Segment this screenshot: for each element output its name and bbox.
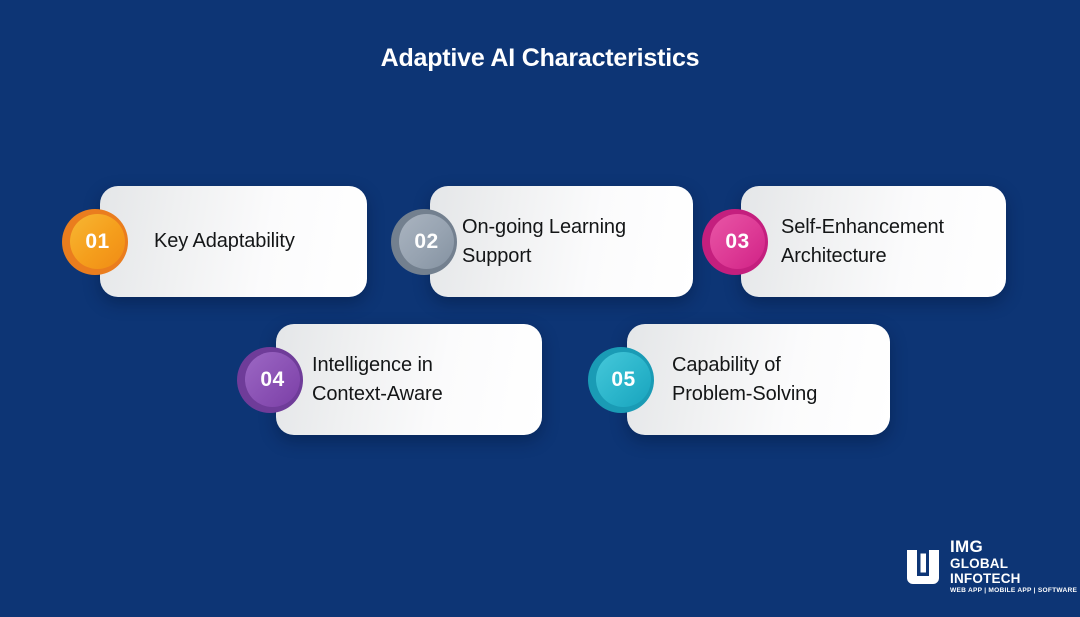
card-02-badge: 02 bbox=[399, 214, 454, 269]
card-02-label: On-going Learning Support bbox=[462, 213, 626, 270]
card-01-label: Key Adaptability bbox=[154, 227, 295, 255]
card-02[interactable]: On-going Learning Support bbox=[430, 186, 693, 297]
card-03[interactable]: Self-Enhancement Architecture bbox=[741, 186, 1006, 297]
img-logo-mark-icon bbox=[905, 548, 941, 586]
page-title: Adaptive AI Characteristics bbox=[0, 44, 1080, 73]
logo-name: IMG bbox=[950, 538, 1080, 556]
infographic-canvas: Adaptive AI Characteristics Key Adaptabi… bbox=[0, 0, 1080, 617]
logo-text-block: IMG GLOBAL INFOTECH WEB APP | MOBILE APP… bbox=[950, 538, 1080, 595]
card-05-badge: 05 bbox=[596, 352, 651, 407]
card-03-badge: 03 bbox=[710, 214, 765, 269]
card-04[interactable]: Intelligence in Context-Aware bbox=[276, 324, 542, 435]
logo-tagline: WEB APP | MOBILE APP | SOFTWARE bbox=[950, 587, 1080, 596]
card-04-badge: 04 bbox=[245, 352, 300, 407]
card-04-number: 04 bbox=[260, 369, 284, 390]
card-05[interactable]: Capability of Problem-Solving bbox=[627, 324, 890, 435]
card-04-label: Intelligence in Context-Aware bbox=[312, 351, 443, 408]
card-03-number: 03 bbox=[725, 231, 749, 252]
card-05-label: Capability of Problem-Solving bbox=[672, 351, 817, 408]
brand-logo: IMG GLOBAL INFOTECH WEB APP | MOBILE APP… bbox=[905, 538, 1080, 595]
card-01[interactable]: Key Adaptability bbox=[100, 186, 367, 297]
card-05-number: 05 bbox=[611, 369, 635, 390]
logo-subtitle: GLOBAL INFOTECH bbox=[950, 556, 1080, 586]
card-01-badge: 01 bbox=[70, 214, 125, 269]
card-03-label: Self-Enhancement Architecture bbox=[781, 213, 944, 270]
card-01-number: 01 bbox=[85, 231, 109, 252]
card-02-number: 02 bbox=[414, 231, 438, 252]
